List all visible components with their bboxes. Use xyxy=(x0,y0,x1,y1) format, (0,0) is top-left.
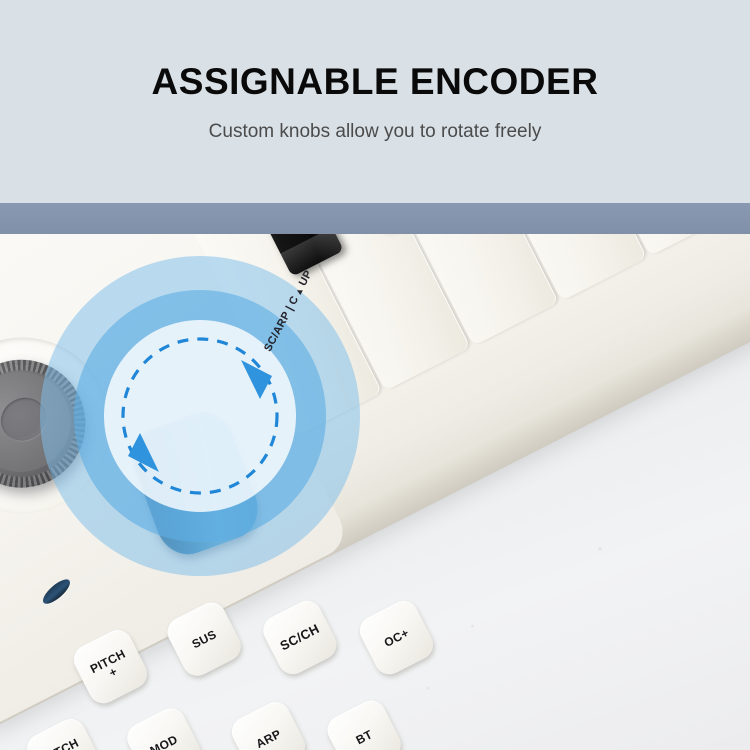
product-photo: C#▲DOWN D▲INCL. xyxy=(0,234,750,750)
button-label: PITCH + xyxy=(88,648,132,686)
button-sus[interactable]: SUS xyxy=(163,598,246,681)
button-label: BT xyxy=(354,728,374,746)
button-oc-plus[interactable]: OC+ xyxy=(355,596,438,679)
product-feature-poster: ASSIGNABLE ENCODER Custom knobs allow yo… xyxy=(0,0,750,750)
page-title: ASSIGNABLE ENCODER xyxy=(0,60,750,104)
button-pitch-up[interactable]: PITCH + xyxy=(69,625,152,708)
panel-port-slot xyxy=(39,576,73,608)
button-label: SUS xyxy=(190,628,218,650)
button-sc-ch[interactable]: SC/CH xyxy=(258,596,341,679)
knob-top-dimple xyxy=(0,390,54,448)
button-mod[interactable]: MOD xyxy=(122,703,205,750)
button-arp[interactable]: ARP xyxy=(227,697,310,750)
pitch-bend-wheel[interactable] xyxy=(124,403,267,563)
header-band: ASSIGNABLE ENCODER Custom knobs allow yo… xyxy=(0,0,750,203)
assignable-encoder-knob[interactable] xyxy=(0,338,108,510)
page-subtitle: Custom knobs allow you to rotate freely xyxy=(0,119,750,145)
button-label: MOD xyxy=(148,733,179,750)
button-label: OC+ xyxy=(382,627,411,649)
button-label: PITCH - xyxy=(42,736,86,750)
button-pitch-down[interactable]: PITCH - xyxy=(22,714,105,750)
button-label: ARP xyxy=(254,728,283,750)
divider-band xyxy=(0,203,750,234)
button-label: SC/CH xyxy=(278,623,321,653)
encoder-seat xyxy=(0,307,141,544)
